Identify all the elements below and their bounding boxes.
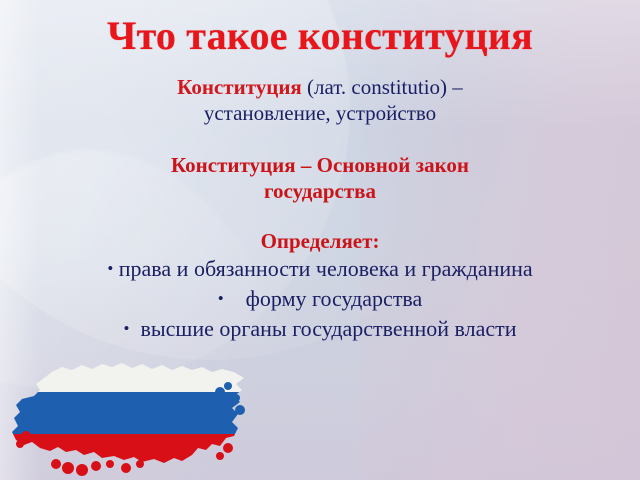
- list-item: • высшие органы государственной власти: [16, 314, 624, 344]
- statement-line-1: Конституция – Основной закон: [171, 153, 469, 177]
- slide-body: Конституция (лат. constitutio) – установ…: [16, 74, 624, 344]
- list-item: • форму государства: [16, 284, 624, 314]
- list-item-label: права и обязанности человека и гражданин…: [113, 256, 532, 281]
- determines-list: • права и обязанности человека и граждан…: [16, 254, 624, 344]
- definition-latin: (лат. constitutio) –: [302, 75, 463, 99]
- statement-line-2: государства: [264, 179, 376, 203]
- definition-term: Конституция: [177, 75, 302, 99]
- definition-meaning: установление, устройство: [204, 101, 436, 125]
- list-item-label: форму государства: [224, 286, 423, 311]
- spacer-two: [16, 204, 624, 228]
- list-item-label: высшие органы государственной власти: [129, 316, 516, 341]
- spacer-one: [16, 126, 624, 152]
- page-title: Что такое конституция: [0, 14, 640, 59]
- statement-paragraph: Конституция – Основной закон государства: [16, 152, 624, 204]
- presentation-slide: Что такое конституция Конституция (лат. …: [0, 0, 640, 480]
- list-item: • права и обязанности человека и граждан…: [16, 254, 624, 284]
- definition-paragraph: Конституция (лат. constitutio) – установ…: [16, 74, 624, 126]
- determines-heading: Определяет:: [16, 228, 624, 254]
